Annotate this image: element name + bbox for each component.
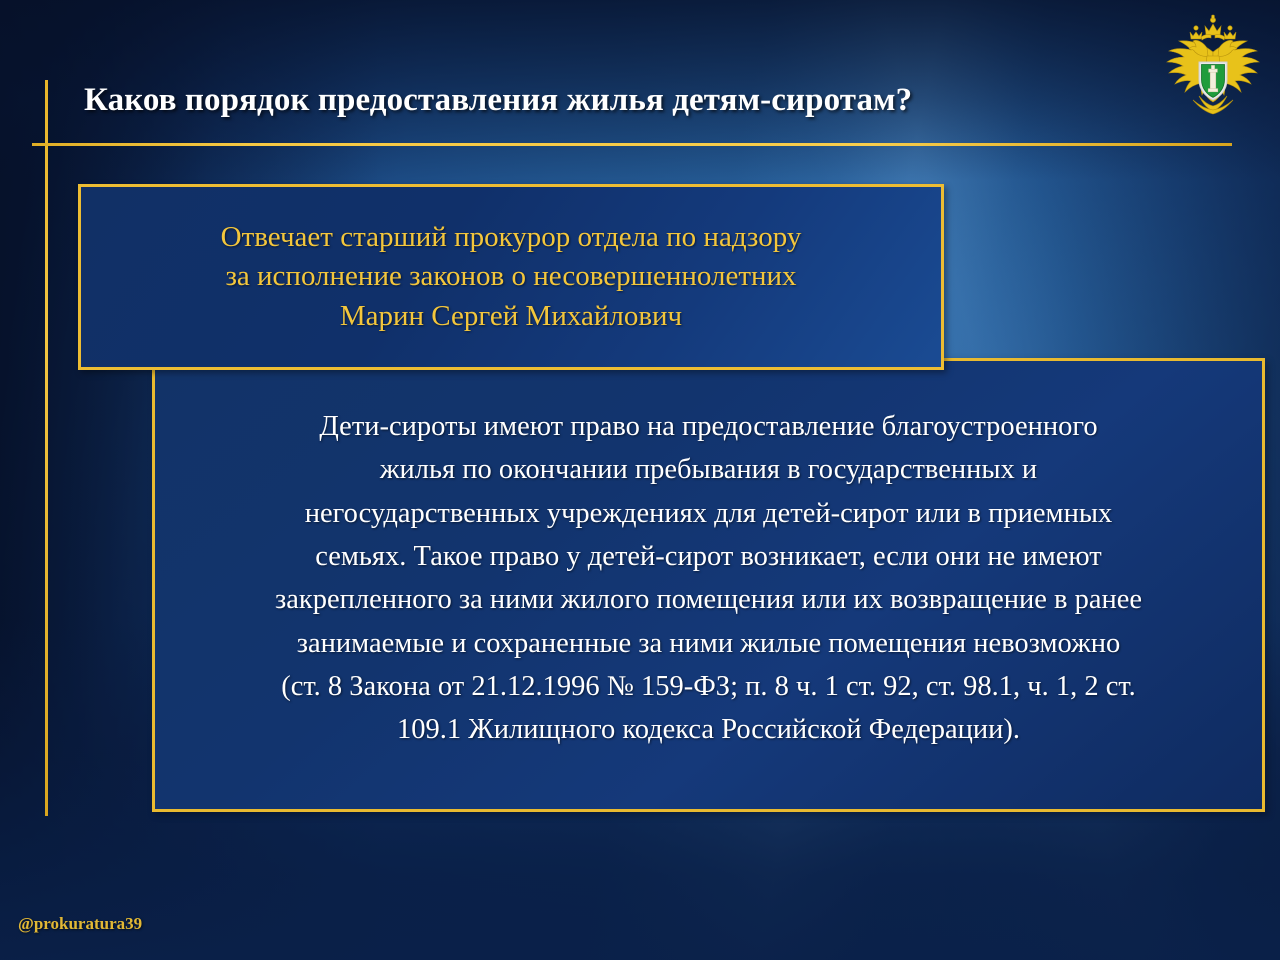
speaker-attribution-text: Отвечает старший прокурор отдела по надз… — [203, 218, 820, 336]
page-title: Каков порядок предоставления жилья детям… — [84, 82, 1104, 119]
body-line: занимаемые и сохраненные за ними жилые п… — [177, 622, 1240, 665]
body-line: жилья по окончании пребывания в государс… — [177, 448, 1240, 491]
quote-line: Отвечает старший прокурор отдела по надз… — [221, 218, 802, 257]
decorative-horizontal-rule — [32, 143, 1232, 146]
body-line: семьях. Такое право у детей-сирот возник… — [177, 535, 1240, 578]
body-line: негосударственных учреждениях для детей-… — [177, 492, 1240, 535]
answer-content-text: Дети-сироты имеют право на предоставлени… — [177, 405, 1240, 752]
watermark-handle: @prokuratura39 — [18, 914, 142, 934]
quote-line: Марин Сергей Михайлович — [221, 297, 802, 336]
decorative-vertical-rule — [45, 80, 48, 816]
prosecutor-general-office-emblem-icon — [1163, 12, 1263, 116]
quote-line: за исполнение законов о несовершеннолетн… — [221, 257, 802, 296]
speaker-attribution-box: Отвечает старший прокурор отдела по надз… — [78, 184, 944, 370]
presentation-slide: Каков порядок предоставления жилья детям… — [0, 0, 1280, 960]
body-line: (ст. 8 Закона от 21.12.1996 № 159-ФЗ; п.… — [177, 665, 1240, 708]
answer-content-box: Дети-сироты имеют право на предоставлени… — [152, 358, 1265, 812]
body-line: закрепленного за ними жилого помещения и… — [177, 578, 1240, 621]
body-line: Дети-сироты имеют право на предоставлени… — [177, 405, 1240, 448]
body-line: 109.1 Жилищного кодекса Российской Федер… — [177, 708, 1240, 751]
